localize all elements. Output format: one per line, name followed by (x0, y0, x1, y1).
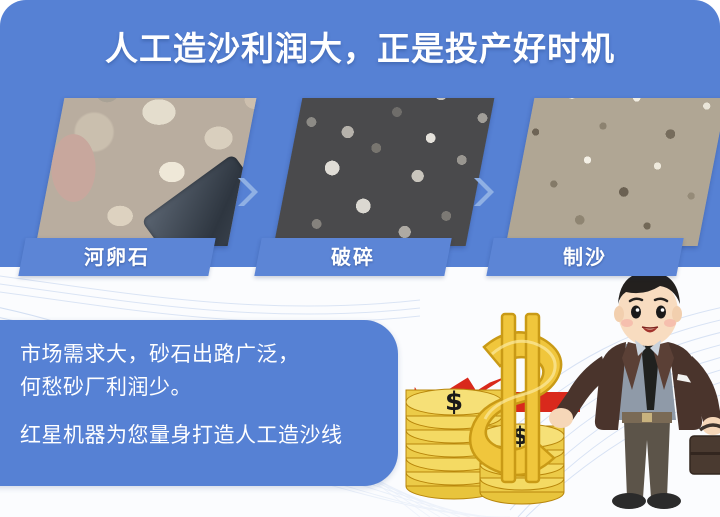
process-label-3: 制沙 (490, 238, 680, 276)
manufactured-sand-photo (506, 98, 720, 246)
message-box: 市场需求大，砂石出路广泛， 何愁砂厂利润少。 红星机器为您量身打造人工造沙线 (0, 320, 398, 486)
process-label-banner-3: 制沙 (486, 238, 683, 276)
page-title: 人工造沙利润大，正是投产好时机 (0, 22, 720, 70)
process-label-1: 河卵石 (22, 238, 212, 276)
river-pebbles-photo (36, 98, 257, 246)
process-label-banner-2: 破碎 (254, 238, 451, 276)
process-card-sand-making (506, 98, 720, 246)
hand (549, 408, 573, 428)
crushed-gravel-photo (274, 98, 495, 246)
process-card-crushing (274, 98, 495, 246)
message-line-2: 何愁砂厂利润少。 (20, 371, 398, 404)
coin-dollar-symbol: $ (445, 387, 463, 417)
profit-illustration: $ $ (380, 270, 720, 517)
process-label-2: 破碎 (258, 238, 448, 276)
chevron-right-icon (468, 175, 502, 209)
process-card-river-pebbles (36, 98, 257, 246)
message-line-3: 红星机器为您量身打造人工造沙线 (20, 419, 398, 452)
chevron-right-icon (232, 175, 266, 209)
process-label-banner-1: 河卵石 (18, 238, 215, 276)
poster-root: 人工造沙利润大，正是投产好时机 河卵石 破碎 制沙 市场需求大，砂石出路广泛， … (0, 0, 720, 517)
message-line-1: 市场需求大，砂石出路广泛， (20, 320, 398, 371)
